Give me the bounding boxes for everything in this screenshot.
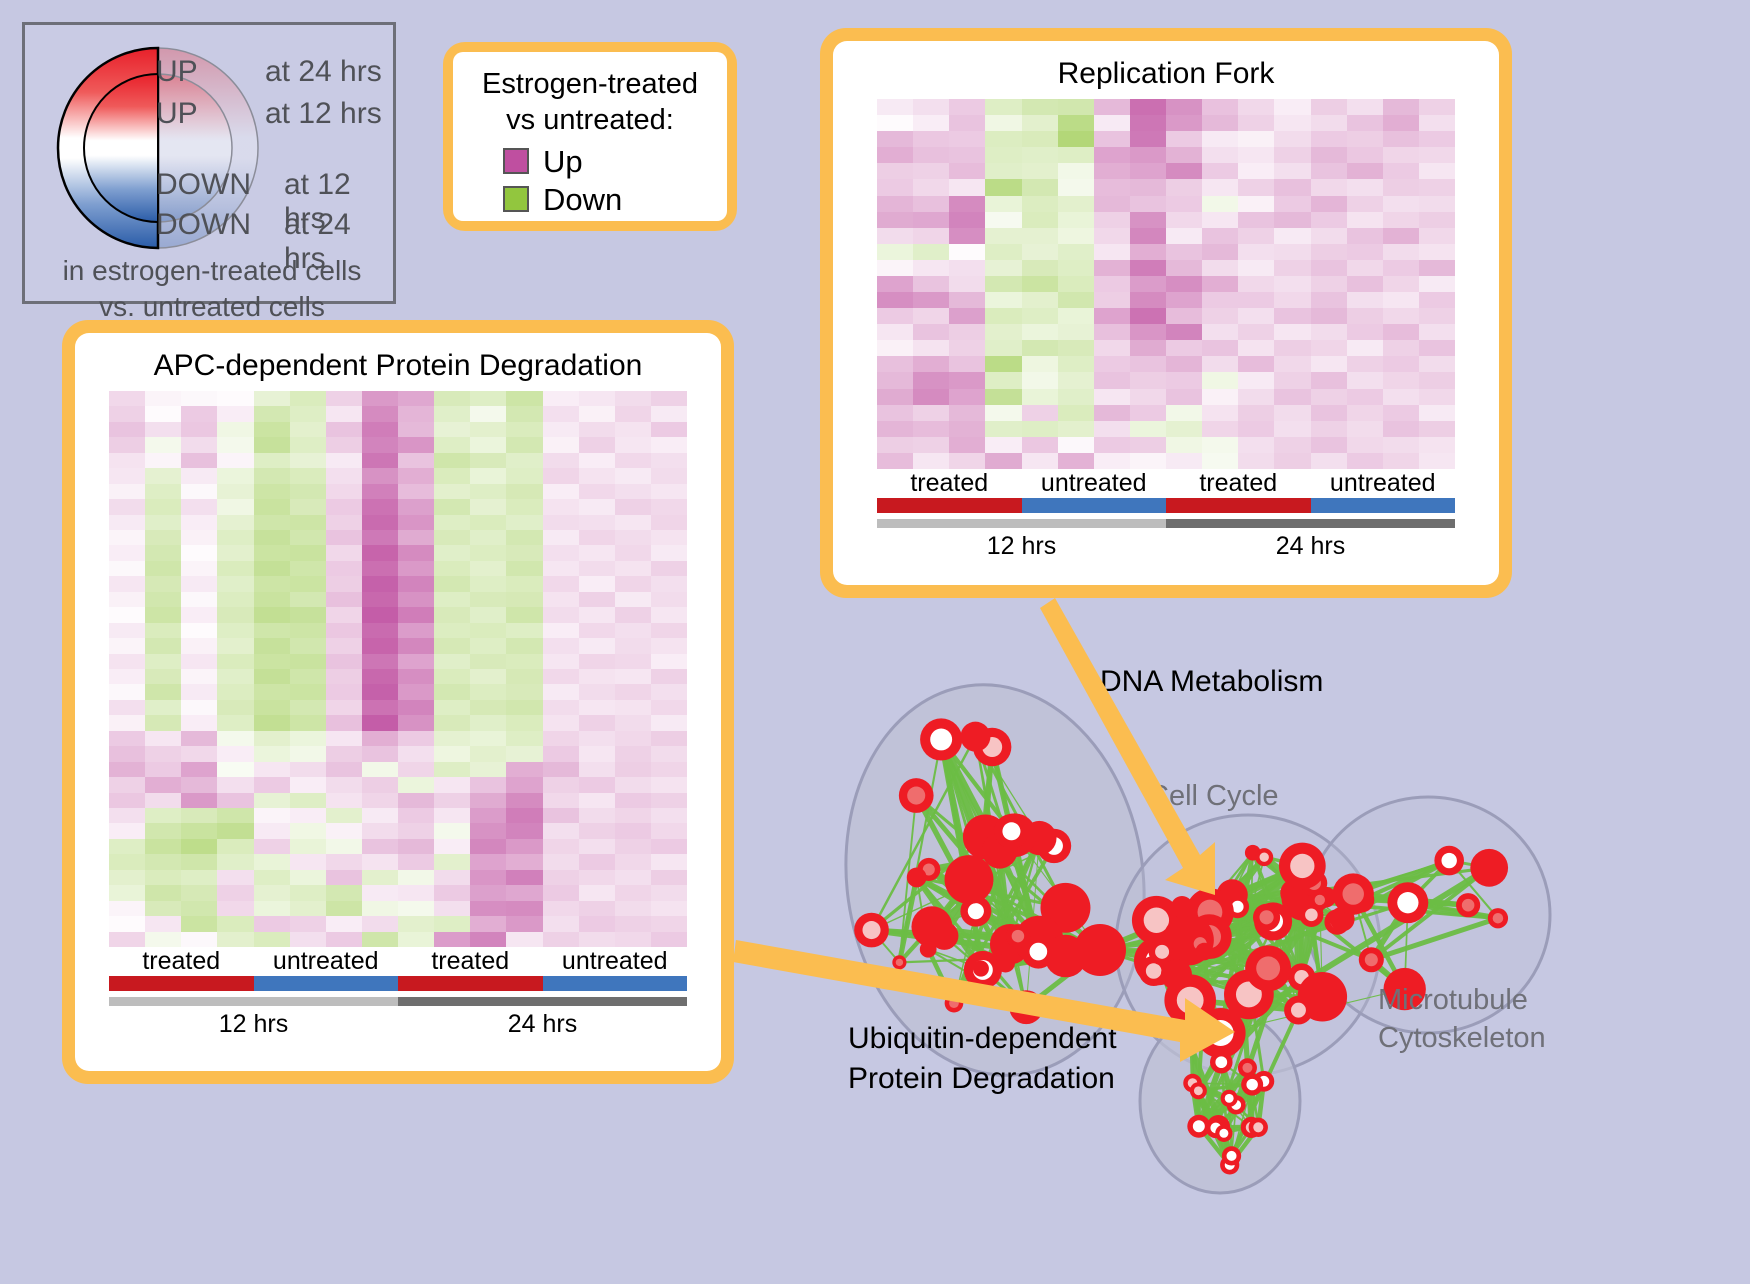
network-node-core (930, 729, 952, 751)
heatmap-cell (398, 684, 434, 699)
heatmap-cell (1274, 405, 1310, 421)
heatmap-cell (1130, 276, 1166, 292)
heatmap-cell (1238, 421, 1274, 437)
heatmap-cell (398, 916, 434, 931)
heatmap-cell (362, 499, 398, 514)
heatmap-cell (290, 715, 326, 730)
heatmap-cell (1347, 340, 1383, 356)
heatmap-cell (1058, 389, 1094, 405)
heatmap-cell (877, 260, 913, 276)
heatmap-cell (1166, 340, 1202, 356)
heatmap-cell (1383, 163, 1419, 179)
heatmap-cell (290, 839, 326, 854)
heatmap-cell (579, 777, 615, 792)
panel-apc-dependent-protein-degradation: APC-dependent Protein Degradation treate… (62, 320, 734, 1084)
heatmap-cell (1130, 244, 1166, 260)
heatmap-cell (398, 484, 434, 499)
heatmap-cell (290, 731, 326, 746)
heatmap-cell (1166, 324, 1202, 340)
heatmap-cell (145, 468, 181, 483)
heatmap-cell (434, 777, 470, 792)
time-label-24hrs: 24 hrs (398, 1006, 687, 1039)
network-node-core (1260, 852, 1269, 861)
heatmap-cell (1094, 163, 1130, 179)
heatmap-cell (434, 700, 470, 715)
heatmap-cell (985, 131, 1021, 147)
heatmap-cell (181, 422, 217, 437)
heatmap-cell (217, 468, 253, 483)
heatmap-cell (1058, 437, 1094, 453)
condition-label-treated-24h: treated (398, 947, 543, 976)
up-swatch-icon (503, 148, 529, 174)
heatmap-cell (985, 437, 1021, 453)
heatmap-cell (506, 468, 542, 483)
heatmap-cell (398, 823, 434, 838)
heatmap-cell (949, 163, 985, 179)
heatmap-cell (615, 839, 651, 854)
heatmap-cell (1130, 292, 1166, 308)
heatmap-cell (651, 654, 687, 669)
replication-fork-time-bars (877, 519, 1455, 528)
condition-bar-treated-24h (398, 976, 543, 991)
heatmap-cell (543, 484, 579, 499)
heatmap-cell (1238, 324, 1274, 340)
heatmap-cell (470, 638, 506, 653)
heatmap-cell (181, 499, 217, 514)
heatmap-cell (290, 638, 326, 653)
heatmap-cell (543, 607, 579, 622)
heatmap-cell (434, 422, 470, 437)
heatmap-cell (1094, 372, 1130, 388)
network-node-core (1146, 963, 1162, 979)
heatmap-cell (398, 545, 434, 560)
heatmap-cell (434, 901, 470, 916)
heatmap-cell (470, 545, 506, 560)
heatmap-cell (1094, 147, 1130, 163)
heatmap-cell (651, 823, 687, 838)
heatmap-cell (1419, 405, 1455, 421)
heatmap-cell (913, 115, 949, 131)
heatmap-cell (290, 808, 326, 823)
heatmap-cell (1202, 228, 1238, 244)
heatmap-cell (949, 260, 985, 276)
heatmap-cell (506, 638, 542, 653)
heatmap-cell (109, 499, 145, 514)
heatmap-cell (145, 499, 181, 514)
heatmap-cell (1166, 292, 1202, 308)
heatmap-cell (326, 885, 362, 900)
heatmap-cell (362, 561, 398, 576)
time-label-12hrs: 12 hrs (109, 1006, 398, 1039)
apc-condition-bars (109, 976, 687, 991)
heatmap-cell (1130, 389, 1166, 405)
heatmap-cell (1058, 276, 1094, 292)
heatmap-cell (326, 916, 362, 931)
heatmap-cell (181, 870, 217, 885)
heatmap-cell (1202, 437, 1238, 453)
heatmap-cell (651, 484, 687, 499)
condition-label-treated-12h: treated (877, 469, 1022, 498)
heatmap-cell (145, 391, 181, 406)
heatmap-cell (109, 638, 145, 653)
heatmap-cell (615, 870, 651, 885)
heatmap-cell (579, 391, 615, 406)
heatmap-cell (290, 530, 326, 545)
heatmap-cell (579, 731, 615, 746)
heatmap-cell (470, 576, 506, 591)
heatmap-cell (217, 406, 253, 421)
heatmap-cell (254, 839, 290, 854)
heatmap-cell (615, 808, 651, 823)
heatmap-cell (543, 777, 579, 792)
heatmap-cell (1130, 453, 1166, 469)
heatmap-cell (651, 808, 687, 823)
panel-replication-fork: Replication Fork treated untreated treat… (820, 28, 1512, 598)
heatmap-cell (1347, 244, 1383, 260)
heatmap-cell (615, 932, 651, 947)
heatmap-cell (398, 437, 434, 452)
heatmap-cell (470, 530, 506, 545)
network-node (907, 868, 927, 888)
heatmap-cell (579, 916, 615, 931)
heatmap-cell (1130, 372, 1166, 388)
heatmap-cell (615, 530, 651, 545)
heatmap-cell (651, 793, 687, 808)
heatmap-cell (362, 684, 398, 699)
heatmap-cell (1238, 228, 1274, 244)
heatmap-cell (543, 638, 579, 653)
heatmap-cell (1130, 131, 1166, 147)
heatmap-cell (434, 499, 470, 514)
heatmap-cell (579, 901, 615, 916)
heatmap-cell (1274, 196, 1310, 212)
network-node-core (1397, 892, 1418, 913)
heatmap-cell (615, 746, 651, 761)
heatmap-cell (434, 762, 470, 777)
heatmap-cell (949, 244, 985, 260)
legend-item-down: Down (503, 180, 717, 218)
heatmap-cell (579, 437, 615, 452)
heatmap-cell (1058, 453, 1094, 469)
heatmap-cell (362, 808, 398, 823)
heatmap-cell (949, 405, 985, 421)
heatmap-cell (290, 607, 326, 622)
heatmap-cell (254, 592, 290, 607)
heatmap-cell (1022, 244, 1058, 260)
heatmap-cell (1202, 115, 1238, 131)
heatmap-cell (434, 406, 470, 421)
heatmap-cell (145, 576, 181, 591)
heatmap-cell (543, 715, 579, 730)
heatmap-cell (506, 576, 542, 591)
heatmap-cell (506, 561, 542, 576)
heatmap-cell (398, 422, 434, 437)
heatmap-cell (326, 515, 362, 530)
heatmap-cell (913, 453, 949, 469)
heatmap-cell (949, 372, 985, 388)
heatmap-cell (1419, 340, 1455, 356)
heatmap-cell (326, 684, 362, 699)
heatmap-cell (181, 576, 217, 591)
condition-bar-untreated-24h (1311, 498, 1456, 513)
heatmap-cell (985, 115, 1021, 131)
heatmap-cell (615, 561, 651, 576)
heatmap-cell (109, 453, 145, 468)
heatmap-cell (506, 793, 542, 808)
heatmap-cell (877, 405, 913, 421)
heatmap-cell (398, 777, 434, 792)
heatmap-cell (290, 777, 326, 792)
heatmap-cell (254, 684, 290, 699)
heatmap-cell (615, 731, 651, 746)
network-node-core (1225, 1094, 1234, 1103)
heatmap-cell (543, 530, 579, 545)
heatmap-cell (362, 576, 398, 591)
heatmap-cell (145, 406, 181, 421)
heatmap-cell (877, 115, 913, 131)
heatmap-cell (145, 638, 181, 653)
heatmap-cell (1347, 115, 1383, 131)
heatmap-cell (254, 854, 290, 869)
heatmap-cell (651, 901, 687, 916)
heatmap-cell (470, 870, 506, 885)
heatmap-cell (877, 324, 913, 340)
heatmap-cell (1419, 276, 1455, 292)
heatmap-cell (470, 592, 506, 607)
heatmap-cell (109, 854, 145, 869)
heatmap-cell (109, 422, 145, 437)
heatmap-cell (290, 854, 326, 869)
heatmap-cell (1166, 163, 1202, 179)
heatmap-cell (290, 654, 326, 669)
updown-legend-title-line1: Estrogen-treated (463, 66, 717, 102)
heatmap-cell (470, 669, 506, 684)
heatmap-cell (181, 561, 217, 576)
heatmap-cell (470, 731, 506, 746)
heatmap-cell (434, 746, 470, 761)
heatmap-cell (913, 437, 949, 453)
heatmap-cell (1347, 453, 1383, 469)
heatmap-cell (217, 870, 253, 885)
heatmap-cell (434, 592, 470, 607)
heatmap-cell (145, 885, 181, 900)
heatmap-cell (1383, 340, 1419, 356)
heatmap-cell (1130, 147, 1166, 163)
heatmap-cell (949, 179, 985, 195)
heatmap-cell (326, 545, 362, 560)
heatmap-cell (398, 762, 434, 777)
heatmap-cell (579, 545, 615, 560)
heatmap-cell (362, 592, 398, 607)
heatmap-cell (109, 839, 145, 854)
heatmap-cell (398, 607, 434, 622)
heatmap-cell (985, 292, 1021, 308)
heatmap-cell (145, 484, 181, 499)
heatmap-cell (1022, 99, 1058, 115)
heatmap-cell (109, 391, 145, 406)
heatmap-cell (398, 638, 434, 653)
heatmap-cell (181, 453, 217, 468)
network-node-core (1462, 899, 1475, 912)
heatmap-cell (1094, 196, 1130, 212)
heatmap-cell (470, 391, 506, 406)
heatmap-cell (615, 391, 651, 406)
heatmap-cell (181, 700, 217, 715)
heatmap-cell (1202, 340, 1238, 356)
condition-label-treated-24h: treated (1166, 469, 1311, 498)
condition-bar-untreated-12h (254, 976, 399, 991)
heatmap-cell (1419, 196, 1455, 212)
heatmap-cell (181, 854, 217, 869)
heatmap-cell (877, 228, 913, 244)
heatmap-cell (217, 453, 253, 468)
network-node-core (1365, 953, 1378, 966)
heatmap-cell (1274, 356, 1310, 372)
heatmap-cell (1094, 308, 1130, 324)
heatmap-cell (326, 839, 362, 854)
heatmap-cell (326, 623, 362, 638)
network-node-core (1155, 945, 1169, 959)
heatmap-cell (1311, 389, 1347, 405)
heatmap-cell (362, 437, 398, 452)
heatmap-cell (1202, 308, 1238, 324)
condition-bar-treated-12h (877, 498, 1022, 513)
heatmap-cell (949, 196, 985, 212)
heatmap-cell (579, 870, 615, 885)
heatmap-cell (985, 372, 1021, 388)
heatmap-cell (362, 700, 398, 715)
network-node-core (1193, 1120, 1205, 1132)
heatmap-cell (470, 715, 506, 730)
heatmap-cell (145, 901, 181, 916)
heatmap-cell (543, 823, 579, 838)
heatmap-cell (290, 391, 326, 406)
heatmap-cell (615, 638, 651, 653)
heatmap-cell (1238, 276, 1274, 292)
heatmap-cell (326, 576, 362, 591)
heatmap-cell (1274, 437, 1310, 453)
heatmap-cell (1094, 212, 1130, 228)
heatmap-cell (1274, 228, 1310, 244)
heatmap-cell (651, 468, 687, 483)
network-node-core (863, 921, 881, 939)
heatmap-cell (145, 437, 181, 452)
heatmap-cell (109, 576, 145, 591)
heatmap-cell (290, 885, 326, 900)
heatmap-cell (1274, 292, 1310, 308)
heatmap-cell (398, 453, 434, 468)
heatmap-cell (1383, 115, 1419, 131)
colorwheel-legend: UP at 24 hrs UP at 12 hrs DOWN at 12 hrs… (22, 22, 396, 304)
heatmap-cell (615, 885, 651, 900)
heatmap-cell (579, 654, 615, 669)
replication-fork-condition-labels: treated untreated treated untreated (877, 469, 1455, 498)
panel-apc-title: APC-dependent Protein Degradation (154, 349, 643, 383)
heatmap-cell (651, 638, 687, 653)
heatmap-cell (181, 638, 217, 653)
heatmap-cell (1238, 389, 1274, 405)
heatmap-cell (1311, 212, 1347, 228)
heatmap-cell (985, 147, 1021, 163)
heatmap-cell (1311, 324, 1347, 340)
heatmap-cell (1419, 163, 1455, 179)
heatmap-cell (145, 607, 181, 622)
heatmap-cell (651, 731, 687, 746)
heatmap-cell (145, 823, 181, 838)
heatmap-cell (579, 854, 615, 869)
heatmap-cell (470, 777, 506, 792)
heatmap-cell (1383, 196, 1419, 212)
heatmap-cell (398, 576, 434, 591)
heatmap-cell (326, 823, 362, 838)
figure-canvas: UP at 24 hrs UP at 12 hrs DOWN at 12 hrs… (0, 0, 1750, 1279)
heatmap-cell (398, 669, 434, 684)
heatmap-cell (109, 901, 145, 916)
network-node-core (907, 787, 925, 805)
heatmap-cell (254, 607, 290, 622)
heatmap-cell (506, 422, 542, 437)
condition-bar-untreated-24h (543, 976, 688, 991)
heatmap-cell (362, 607, 398, 622)
heatmap-cell (1058, 147, 1094, 163)
heatmap-cell (579, 839, 615, 854)
heatmap-cell (651, 406, 687, 421)
heatmap-cell (145, 793, 181, 808)
heatmap-cell (543, 901, 579, 916)
heatmap-cell (290, 901, 326, 916)
heatmap-cell (326, 901, 362, 916)
heatmap-cell (470, 406, 506, 421)
heatmap-cell (543, 839, 579, 854)
heatmap-cell (326, 746, 362, 761)
condition-bar-treated-24h (1166, 498, 1311, 513)
heatmap-cell (543, 592, 579, 607)
heatmap-cell (506, 901, 542, 916)
heatmap-cell (543, 684, 579, 699)
heatmap-cell (181, 623, 217, 638)
heatmap-cell (579, 700, 615, 715)
heatmap-cell (1311, 292, 1347, 308)
heatmap-cell (398, 499, 434, 514)
heatmap-cell (326, 453, 362, 468)
heatmap-cell (1094, 437, 1130, 453)
heatmap-cell (181, 545, 217, 560)
heatmap-cell (506, 932, 542, 947)
heatmap-cell (470, 808, 506, 823)
network-node (945, 855, 994, 904)
heatmap-cell (1238, 372, 1274, 388)
heatmap-cell (877, 131, 913, 147)
heatmap-cell (1311, 372, 1347, 388)
heatmap-cell (398, 406, 434, 421)
time-bar-12hrs (109, 997, 398, 1006)
heatmap-cell (579, 932, 615, 947)
heatmap-cell (290, 870, 326, 885)
heatmap-cell (1274, 115, 1310, 131)
heatmap-cell (1238, 292, 1274, 308)
heatmap-cell (434, 437, 470, 452)
heatmap-cell (470, 484, 506, 499)
heatmap-cell (651, 762, 687, 777)
heatmap-cell (1166, 405, 1202, 421)
heatmap-cell (1058, 260, 1094, 276)
heatmap-cell (1238, 99, 1274, 115)
heatmap-cell (217, 901, 253, 916)
heatmap-cell (254, 638, 290, 653)
panel-replication-fork-title: Replication Fork (1058, 57, 1275, 91)
heatmap-cell (290, 468, 326, 483)
heatmap-cell (985, 421, 1021, 437)
